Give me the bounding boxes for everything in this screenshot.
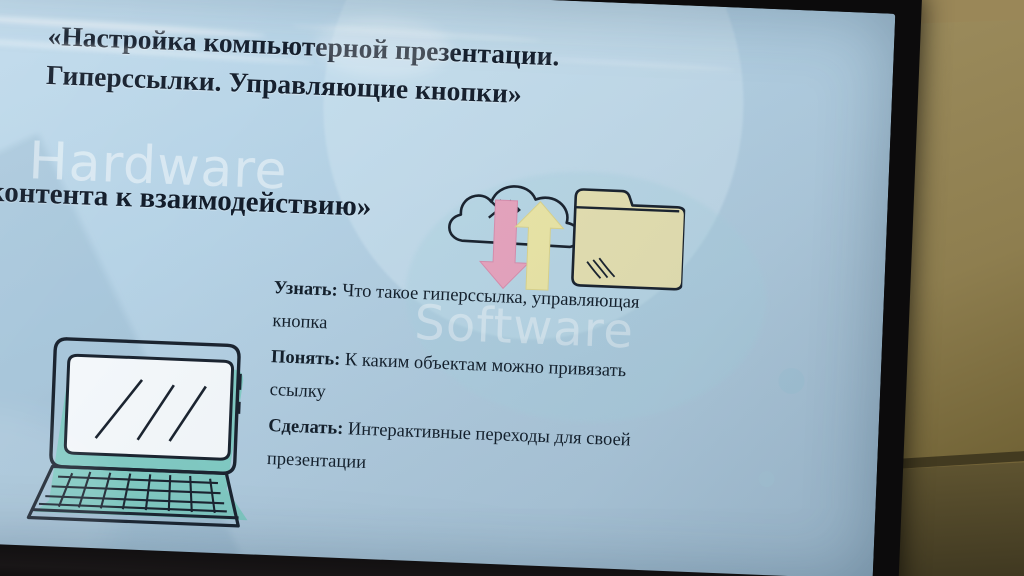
slide-objectives-list: Узнать: Что такое гиперссылка, управляющ…: [266, 272, 684, 495]
slide-bg-dot-small: [758, 471, 775, 488]
presentation-slide: Hardware Software «Настройка компьютерно…: [0, 0, 895, 576]
list-item: Сделать: Интерактивные переходы для свое…: [266, 410, 678, 492]
slide-bg-dot-large: [778, 367, 805, 394]
list-item: Понять: К каким объектам можно привязать…: [269, 341, 681, 423]
objective-lead: Узнать:: [273, 278, 338, 301]
room-photo-scene: Hardware Software «Настройка компьютерно…: [0, 0, 1024, 576]
objective-lead: Понять:: [271, 347, 341, 370]
objective-lead: Сделать:: [268, 416, 344, 439]
tv-screen-area: Hardware Software «Настройка компьютерно…: [0, 0, 895, 576]
folder-icon: [562, 173, 687, 296]
television-display: Hardware Software «Настройка компьютерно…: [0, 0, 922, 576]
